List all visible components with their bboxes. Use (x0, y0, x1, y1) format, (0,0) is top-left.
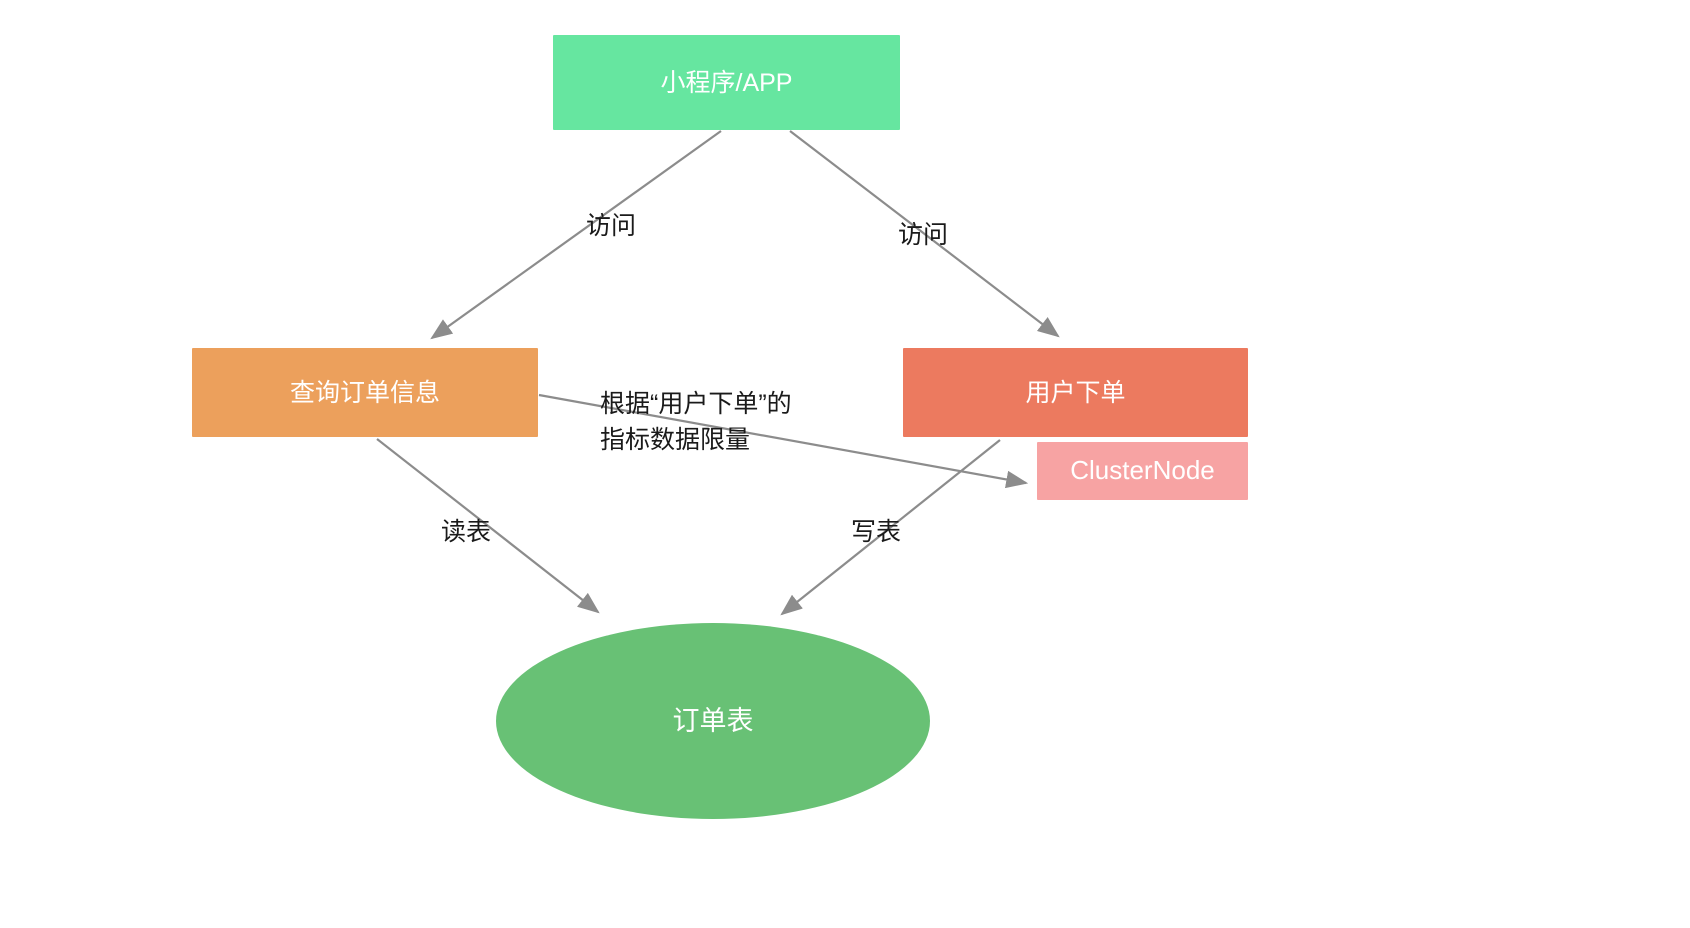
edge-label-access-left: 访问 (586, 208, 636, 244)
edge-label-metric-limit: 根据“用户下单”的 指标数据限量 (600, 386, 792, 459)
edge-label-access-right: 访问 (898, 217, 948, 253)
edge-label-write-table: 写表 (851, 514, 901, 550)
edge-label-read-table: 读表 (441, 514, 491, 550)
node-cluster-node[interactable]: ClusterNode (1037, 442, 1248, 500)
diagram-canvas: 小程序/APP 查询订单信息 用户下单 ClusterNode 订单表 访问 访… (0, 0, 1690, 928)
edge-app-to-query (432, 131, 721, 338)
node-mini-program-app[interactable]: 小程序/APP (553, 35, 900, 130)
node-order-table[interactable]: 订单表 (496, 623, 930, 819)
node-query-order-info[interactable]: 查询订单信息 (192, 348, 538, 437)
node-user-place-order[interactable]: 用户下单 (903, 348, 1248, 437)
